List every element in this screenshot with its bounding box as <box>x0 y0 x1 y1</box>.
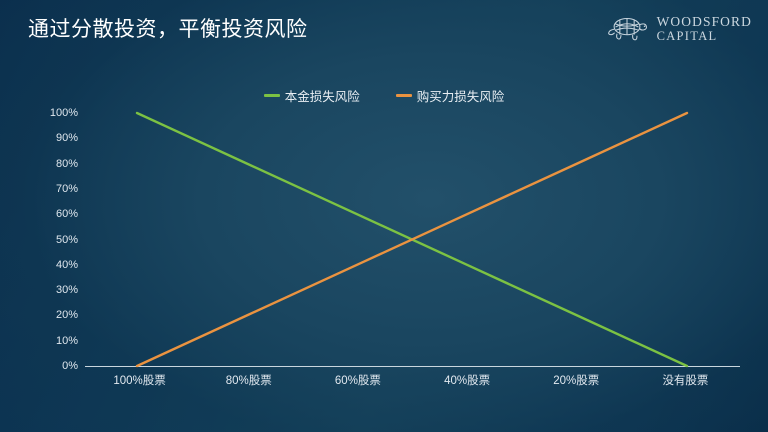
x-axis-tick: 没有股票 <box>631 372 740 388</box>
x-axis-labels: 100%股票80%股票60%股票40%股票20%股票没有股票 <box>85 372 740 388</box>
x-axis-tick: 40%股票 <box>413 372 522 388</box>
x-axis-tick: 20%股票 <box>522 372 631 388</box>
chart-plot-area <box>0 0 768 432</box>
x-axis-tick: 60%股票 <box>303 372 412 388</box>
x-axis-tick: 80%股票 <box>194 372 303 388</box>
slide-canvas: 通过分散投资，平衡投资风险 WOODSFORD CAPITAL 本金损 <box>0 0 768 432</box>
x-axis-tick: 100%股票 <box>85 372 194 388</box>
line-chart: 100%90%80%70%60%50%40%30%20%10%0% 100%股票… <box>0 0 768 432</box>
